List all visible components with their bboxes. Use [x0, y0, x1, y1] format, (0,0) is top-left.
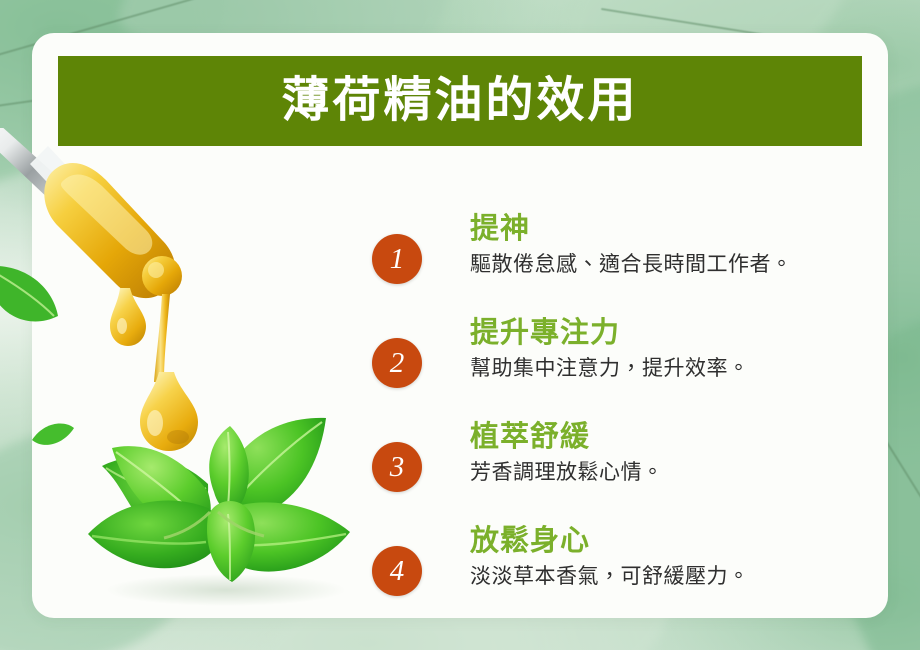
benefit-list: 1 提神 驅散倦怠感、適合長時間工作者。 2 提升專注力 幫助集中注意力，提升效… [372, 197, 872, 613]
benefit-description: 淡淡草本香氣，可舒緩壓力。 [470, 563, 750, 590]
stray-mint-leaf-icon [30, 418, 76, 452]
stray-mint-leaf-icon [0, 258, 64, 342]
benefit-title: 提神 [470, 213, 793, 246]
list-item: 4 放鬆身心 淡淡草本香氣，可舒緩壓力。 [372, 509, 872, 613]
number-badge: 1 [372, 234, 422, 284]
page-title: 薄荷精油的效用 [281, 77, 638, 125]
infographic-stage: 薄荷精油的效用 1 提神 驅散倦怠感、適合長時間工作者。 2 提升專注力 幫助集… [0, 0, 920, 650]
benefit-description: 驅散倦怠感、適合長時間工作者。 [470, 251, 793, 278]
benefit-title: 放鬆身心 [470, 525, 750, 558]
benefit-title: 提升專注力 [470, 317, 750, 350]
number-badge: 2 [372, 338, 422, 388]
benefit-description: 芳香調理放鬆心情。 [470, 459, 664, 486]
benefit-text-block: 植萃舒緩 芳香調理放鬆心情。 [470, 405, 664, 487]
number-badge: 4 [372, 546, 422, 596]
list-item: 1 提神 驅散倦怠感、適合長時間工作者。 [372, 197, 872, 301]
list-item: 2 提升專注力 幫助集中注意力，提升效率。 [372, 301, 872, 405]
number-badge: 3 [372, 442, 422, 492]
benefit-text-block: 提神 驅散倦怠感、適合長時間工作者。 [470, 197, 793, 279]
list-item: 3 植萃舒緩 芳香調理放鬆心情。 [372, 405, 872, 509]
benefit-description: 幫助集中注意力，提升效率。 [470, 355, 750, 382]
benefit-title: 植萃舒緩 [470, 421, 664, 454]
mint-leaves-icon [58, 392, 378, 607]
benefit-text-block: 提升專注力 幫助集中注意力，提升效率。 [470, 301, 750, 383]
benefit-text-block: 放鬆身心 淡淡草本香氣，可舒緩壓力。 [470, 509, 750, 591]
